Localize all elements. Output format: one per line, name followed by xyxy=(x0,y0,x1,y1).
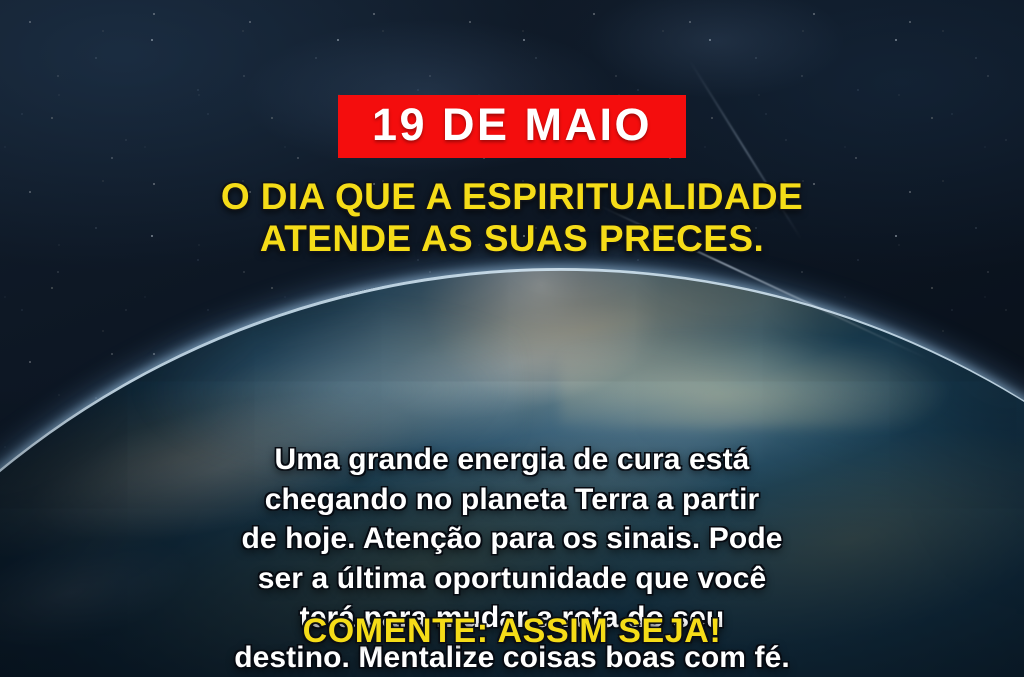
date-banner-text: 19 DE MAIO xyxy=(372,102,652,147)
headline: O DIA QUE A ESPIRITUALIDADE ATENDE AS SU… xyxy=(47,176,977,260)
bottom-white-strip xyxy=(0,677,1024,685)
call-to-action-text: COMENTE: ASSIM SEJA! xyxy=(0,612,1024,651)
body-line-4: ser a última oportunidade que você xyxy=(48,559,976,599)
headline-line-2: ATENDE AS SUAS PRECES. xyxy=(47,218,977,260)
body-line-2: chegando no planeta Terra a partir xyxy=(48,480,976,520)
headline-line-1: O DIA QUE A ESPIRITUALIDADE xyxy=(47,176,977,218)
poster-content: 19 DE MAIO O DIA QUE A ESPIRITUALIDADE A… xyxy=(0,0,1024,685)
poster-canvas: 19 DE MAIO O DIA QUE A ESPIRITUALIDADE A… xyxy=(0,0,1024,685)
body-line-3: de hoje. Atenção para os sinais. Pode xyxy=(48,519,976,559)
date-banner: 19 DE MAIO xyxy=(338,95,686,158)
body-line-1: Uma grande energia de cura está xyxy=(48,440,976,480)
